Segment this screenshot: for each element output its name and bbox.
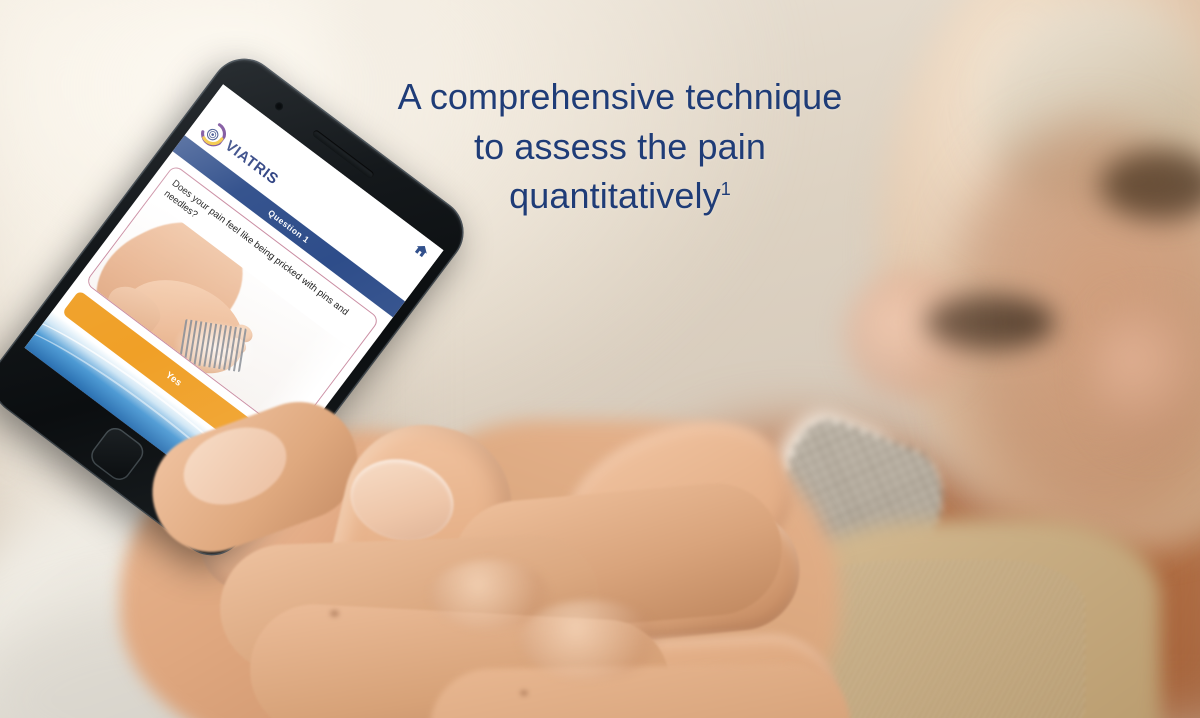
headline-line-1: A comprehensive technique bbox=[330, 72, 910, 122]
headline-line-2: to assess the pain bbox=[330, 122, 910, 172]
headline-line-3-text: quantitatively bbox=[509, 175, 721, 216]
reference-marker: 1 bbox=[721, 179, 731, 199]
person-moustache bbox=[925, 295, 1055, 350]
knuckle-highlight bbox=[520, 600, 660, 680]
finger bbox=[429, 662, 851, 718]
headline-line-3: quantitatively1 bbox=[330, 171, 910, 221]
home-icon[interactable] bbox=[411, 240, 432, 261]
promo-scene: VIATRIS Question 1 Does your pain feel l… bbox=[0, 0, 1200, 718]
skin-spot bbox=[520, 690, 528, 696]
page-title: A comprehensive technique to assess the … bbox=[330, 72, 910, 221]
person-ear bbox=[1088, 300, 1198, 450]
skin-spot bbox=[330, 610, 339, 617]
